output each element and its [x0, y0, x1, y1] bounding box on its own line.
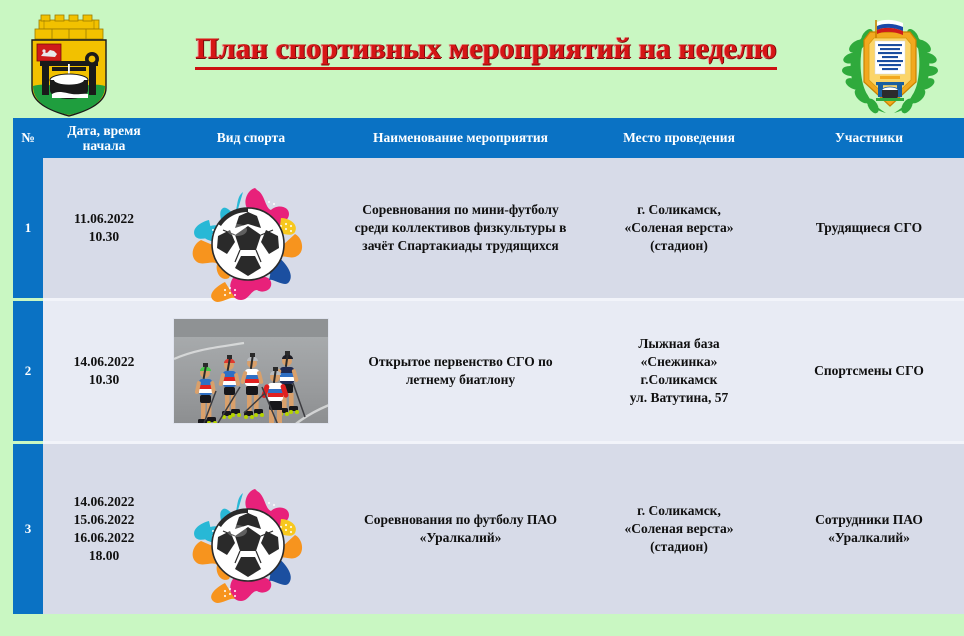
row-date-time: 14.06.2022 15.06.2022 16.06.2022 18.00 [43, 444, 165, 614]
column-header-date-time: Дата, время начала [43, 118, 165, 158]
solikamsk-coat-of-arms-icon [22, 14, 116, 118]
column-header-participants: Участники [774, 118, 964, 158]
soccer-ball-splash-icon [185, 465, 317, 593]
column-header-venue: Место проведения [584, 118, 774, 158]
row-sport-image [165, 301, 337, 441]
row-date-time: 11.06.2022 10.30 [43, 158, 165, 298]
row-sport-image [165, 444, 337, 614]
row-venue: г. Соликамск, «Соленая верста» (стадион) [584, 444, 774, 614]
table-row: 2 14.06.2022 10.30 [13, 301, 964, 441]
column-header-sport-type: Вид спорта [165, 118, 337, 158]
page-title-wrap: План спортивных мероприятий на неделю [150, 33, 822, 70]
row-participants: Сотрудники ПАО «Уралкалий» [774, 444, 964, 614]
page-title: План спортивных мероприятий на неделю [195, 33, 776, 70]
row-venue: г. Соликамск, «Соленая верста» (стадион) [584, 158, 774, 298]
row-number: 2 [13, 301, 43, 441]
events-table: № Дата, время начала Вид спорта Наименов… [0, 118, 964, 614]
column-header-event-name: Наименование мероприятия [337, 118, 584, 158]
row-participants: Спортсмены СГО [774, 301, 964, 441]
row-number: 3 [13, 444, 43, 614]
page-header: План спортивных мероприятий на неделю [0, 0, 964, 118]
column-header-number: № [13, 118, 43, 158]
biathlon-photo-icon [173, 318, 329, 424]
row-event-name: Соревнования по мини-футболу среди колле… [337, 158, 584, 298]
row-venue: Лыжная база «Снежинка» г.Соликамск ул. В… [584, 301, 774, 441]
sports-committee-emblem-icon [836, 14, 944, 118]
table-row: 1 11.06.2022 10.30 [13, 158, 964, 298]
row-participants: Трудящиеся СГО [774, 158, 964, 298]
row-event-name: Соревнования по футболу ПАО «Уралкалий» [337, 444, 584, 614]
table-header-row: № Дата, время начала Вид спорта Наименов… [13, 118, 964, 158]
soccer-ball-splash-icon [185, 164, 317, 292]
table-row: 3 14.06.2022 15.06.2022 16.06.2022 18.00 [13, 444, 964, 614]
row-sport-image [165, 158, 337, 298]
row-number: 1 [13, 158, 43, 298]
row-date-time: 14.06.2022 10.30 [43, 301, 165, 441]
row-event-name: Открытое первенство СГО по летнему биатл… [337, 301, 584, 441]
